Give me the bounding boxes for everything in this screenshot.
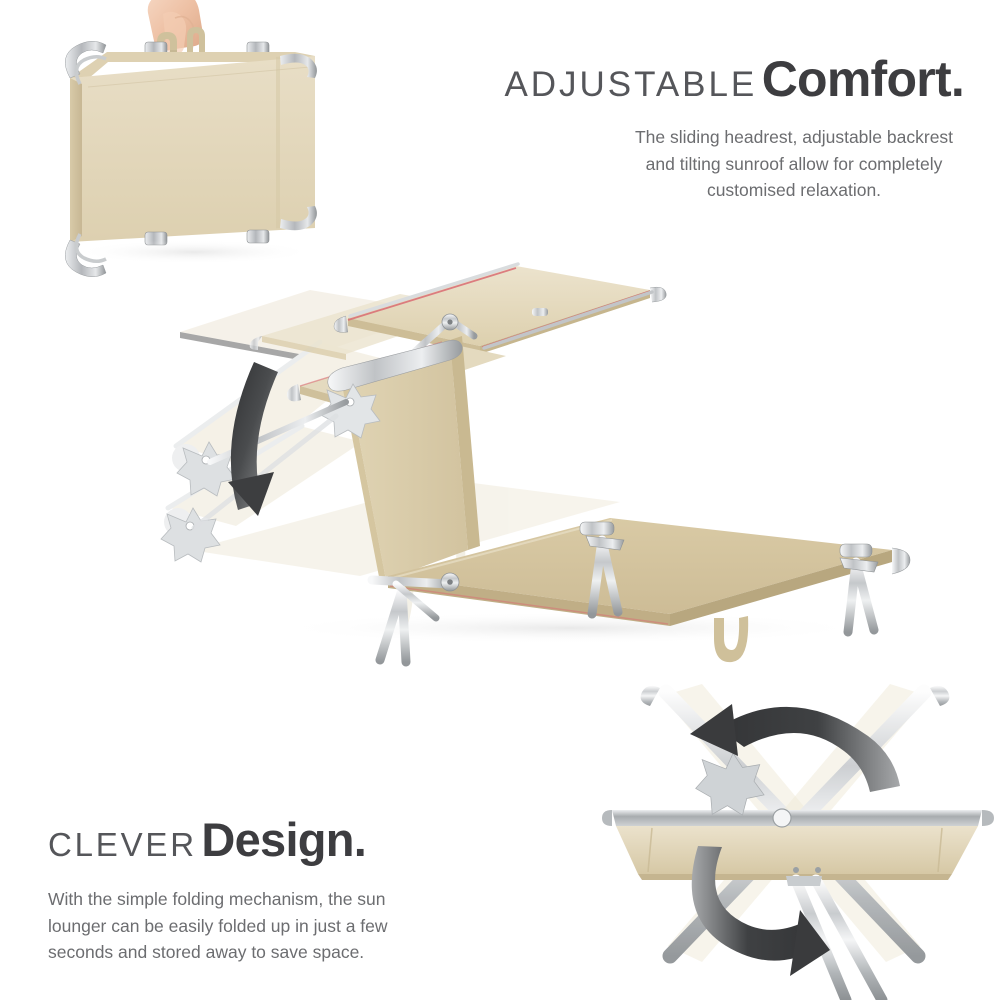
comfort-headline-thin: ADJUSTABLE xyxy=(504,65,757,104)
design-headline-thin: CLEVER xyxy=(48,826,197,863)
folding-mechanism-illustration xyxy=(590,670,1000,1000)
adjustable-lounger-illustration xyxy=(150,250,910,650)
design-headline-bold: Design. xyxy=(201,813,366,866)
comfort-headline: ADJUSTABLE Comfort. xyxy=(504,50,964,108)
design-headline: CLEVER Design. xyxy=(48,812,366,867)
poster-canvas: ADJUSTABLE Comfort. The sliding headrest… xyxy=(0,0,1000,1000)
comfort-headline-bold: Comfort. xyxy=(762,51,964,107)
design-body-text: With the simple folding mechanism, the s… xyxy=(48,886,428,966)
comfort-body-text: The sliding headrest, adjustable backres… xyxy=(624,124,964,204)
folded-lounger-illustration xyxy=(44,0,344,260)
